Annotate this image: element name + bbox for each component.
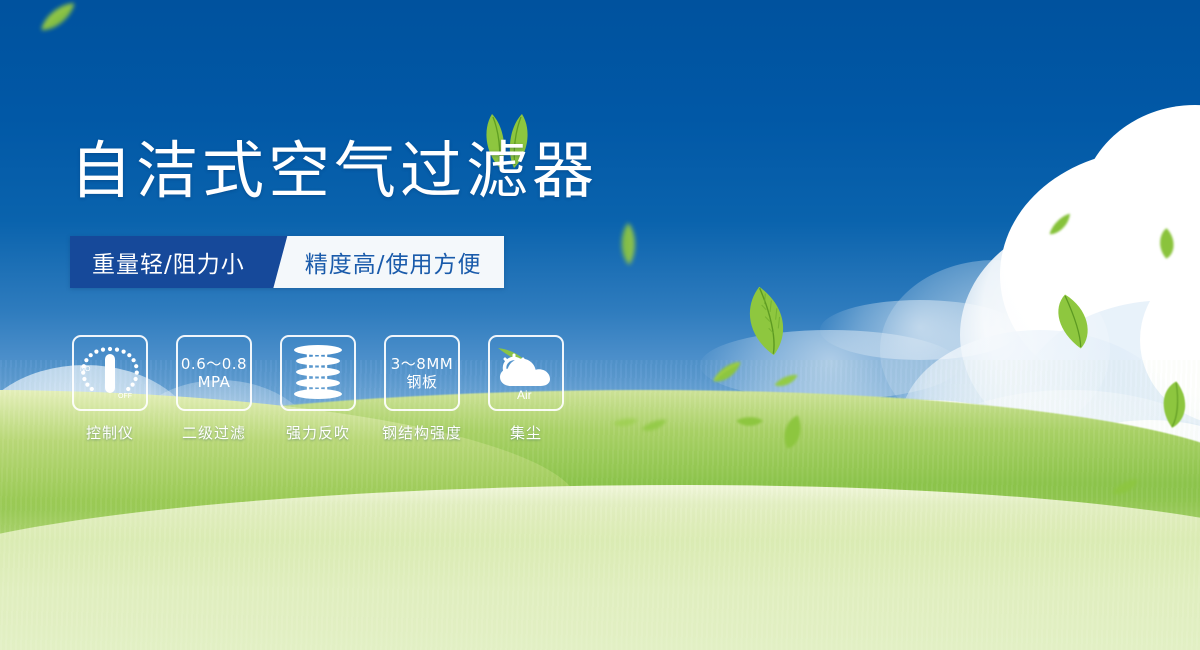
- tagline-divider: [265, 236, 299, 288]
- pressure-text-icon: 0.6～0.8 MPA: [176, 335, 252, 411]
- air-label: Air: [517, 388, 532, 402]
- steel-thickness: 3～8MM: [391, 355, 453, 373]
- tagline-right: 精度高/使用方便: [299, 236, 504, 288]
- product-banner: 自洁式空气过滤器 重量轻/阻力小 精度高/使用方便: [0, 0, 1200, 650]
- filter-cartridge-icon: [280, 335, 356, 411]
- feature-caption: 强力反吹: [286, 422, 350, 443]
- tagline-bar: 重量轻/阻力小 精度高/使用方便: [70, 236, 504, 288]
- feature-caption: 钢结构强度: [382, 422, 462, 443]
- feature-item-steel[interactable]: 3～8MM 钢板 钢结构强度: [384, 335, 460, 443]
- pressure-value: 0.6～0.8: [181, 355, 247, 373]
- gauge-on-label: NO: [80, 366, 91, 373]
- banner-content: 自洁式空气过滤器 重量轻/阻力小 精度高/使用方便: [0, 0, 1200, 650]
- feature-caption: 二级过滤: [182, 422, 246, 443]
- page-title: 自洁式空气过滤器: [70, 140, 598, 202]
- feature-item-backblow[interactable]: 强力反吹: [280, 335, 356, 443]
- feature-item-dust[interactable]: Air 集尘: [488, 335, 564, 443]
- gauge-off-label: OFF: [118, 393, 132, 400]
- gauge-controller-icon: NO OFF: [72, 335, 148, 411]
- pressure-unit: MPA: [181, 373, 247, 391]
- cloud-air-icon: Air: [488, 335, 564, 411]
- feature-item-controller[interactable]: NO OFF 控制仪: [72, 335, 148, 443]
- tagline-left: 重量轻/阻力小: [70, 236, 265, 288]
- feature-item-pressure[interactable]: 0.6～0.8 MPA 二级过滤: [176, 335, 252, 443]
- feature-caption: 控制仪: [86, 422, 134, 443]
- feature-caption: 集尘: [510, 422, 542, 443]
- steel-plate-text-icon: 3～8MM 钢板: [384, 335, 460, 411]
- steel-material: 钢板: [391, 373, 453, 391]
- feature-list: NO OFF 控制仪 0.6～0.8 MPA 二级过滤: [72, 335, 564, 443]
